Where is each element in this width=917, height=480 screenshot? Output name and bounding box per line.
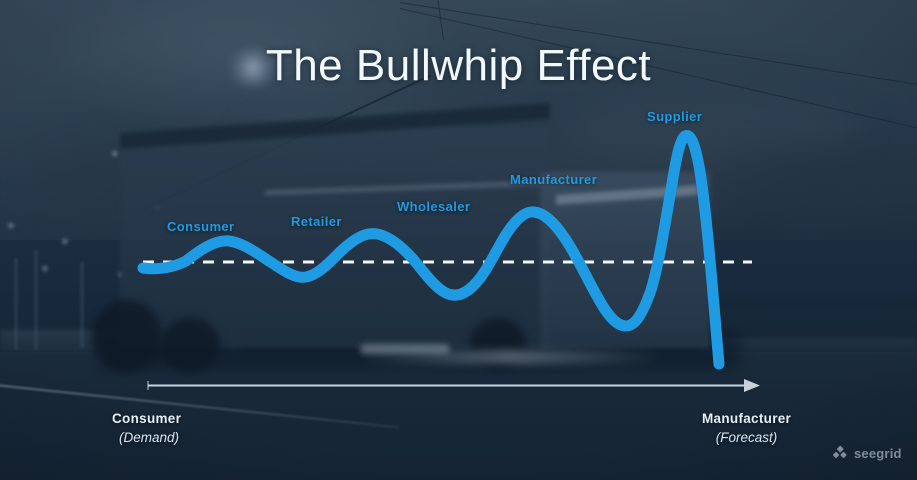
axis-start-name: Consumer (112, 411, 184, 426)
brand-logo-text: seegrid (854, 446, 902, 461)
axis-label-start: Consumer (Demand) (112, 411, 184, 445)
axis-start-sublabel: (Demand) (114, 430, 184, 445)
axis-end-sublabel: (Forecast) (702, 430, 791, 445)
slide-canvas: The Bullwhip Effect Consumer Retailer Wh… (0, 0, 917, 480)
slide-content: The Bullwhip Effect Consumer Retailer Wh… (0, 0, 917, 480)
arrow-head (744, 379, 760, 392)
progression-arrow (0, 0, 917, 480)
diamond-cluster-icon (833, 446, 848, 461)
axis-label-end: Manufacturer (Forecast) (702, 411, 791, 445)
brand-logo: seegrid (833, 446, 902, 461)
axis-end-name: Manufacturer (702, 411, 791, 426)
